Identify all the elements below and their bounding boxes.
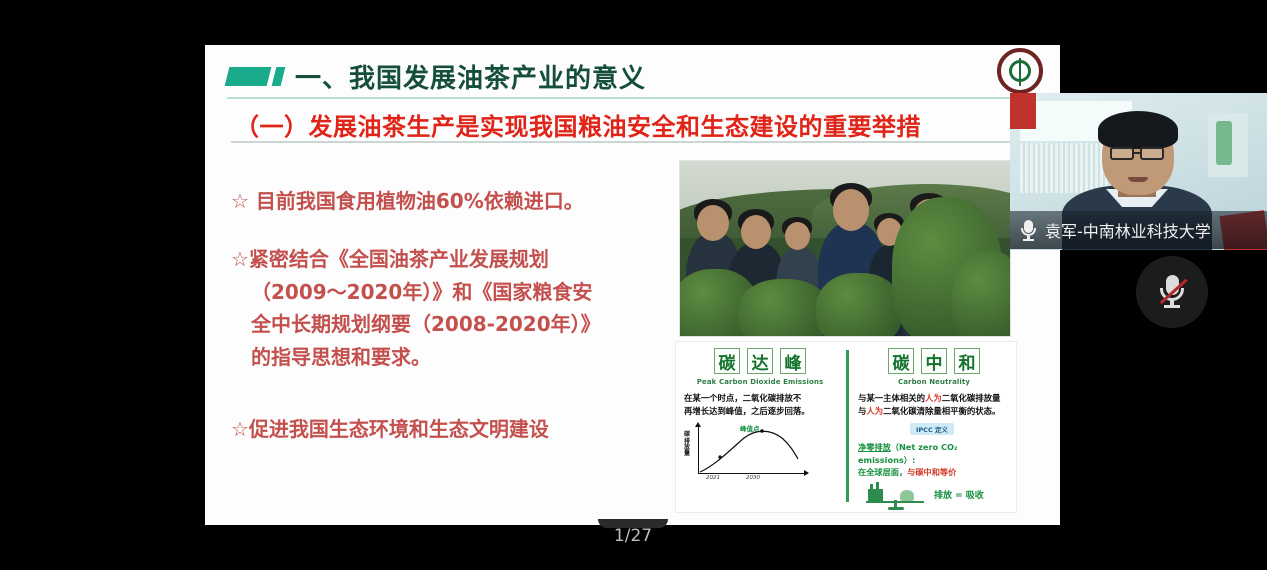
carbon-peak-body: 在某一个时点，二氧化碳排放不 再增长达到峰值，之后逐步回落。 xyxy=(684,392,836,417)
carbon-neutrality-char-2: 中 xyxy=(921,348,947,374)
chart-curve xyxy=(698,426,808,476)
slide-subtitle: （一）发展油茶生产是实现我国粮油安全和生态建设的重要举措 xyxy=(235,107,1055,142)
photo-bush-5 xyxy=(952,251,1011,337)
chart-xtick-1: 2021 xyxy=(706,475,720,481)
net-zero-scope: 在全球层面， xyxy=(858,467,907,477)
presentation-slide[interactable]: 一、我国发展油茶产业的意义 （一）发展油茶生产是实现我国粮油安全和生态建设的重要… xyxy=(205,45,1060,525)
carbon-peak-body-line-2: 再增长达到峰值，之后逐步回落。 xyxy=(684,405,836,418)
photo-person-2-head xyxy=(741,215,771,249)
carbon-peak-char-3: 峰 xyxy=(780,348,806,374)
university-logo xyxy=(997,48,1043,94)
net-zero-equiv: 与碳中和等价 xyxy=(907,467,956,477)
carbon-peak-english: Peak Carbon Dioxide Emissions xyxy=(684,378,836,386)
carbon-neutrality-body-line-1: 与某一主体相关的人为二氧化碳排放量 xyxy=(858,392,1010,405)
net-zero-line-2: 在全球层面，与碳中和等价 xyxy=(858,466,1010,478)
accent-bar-small-icon xyxy=(272,67,286,86)
infographic-divider xyxy=(846,350,849,502)
carbon-infographic: 碳 达 峰 Peak Carbon Dioxide Emissions 在某一个… xyxy=(675,341,1017,513)
carbon-neutrality-body-line-2: 与人为二氧化碳清除量相平衡的状态。 xyxy=(858,405,1010,418)
screen-root: 一、我国发展油茶产业的意义 （一）发展油茶生产是实现我国粮油安全和生态建设的重要… xyxy=(0,0,1267,570)
cn-line1-a: 与某一主体相关的 xyxy=(858,393,925,403)
slide-bullet-list: ☆ 目前我国食用植物油60%依赖进口。 ☆紧密结合《全国油茶产业发展规划 （20… xyxy=(231,185,646,445)
bullet-item-3: ☆促进我国生态环境和生态文明建设 xyxy=(231,413,646,445)
participant-name-strip: 袁军-中南林业科技大学 xyxy=(1010,211,1267,249)
logo-emblem-icon xyxy=(1009,60,1031,82)
slide-title: 一、我国发展油茶产业的意义 xyxy=(295,58,646,95)
carbon-neutrality-char-3: 和 xyxy=(954,348,980,374)
carbon-neutrality-title: 碳 中 和 xyxy=(858,348,1010,374)
carbon-neutrality-char-1: 碳 xyxy=(888,348,914,374)
subtitle-underline xyxy=(231,141,1039,143)
video-bg-poster xyxy=(1208,113,1248,177)
bullet-item-2-line-3: 全中长期规划纲要（2008-2020年）》 xyxy=(231,308,646,340)
participant-mouth xyxy=(1128,177,1148,182)
scale-base xyxy=(888,507,904,510)
microphone-icon xyxy=(1020,219,1037,242)
carbon-peak-char-2: 达 xyxy=(747,348,773,374)
bullet-item-2-line-2: （2009～2020年）》和《国家粮食安 xyxy=(231,276,646,308)
page-indicator[interactable]: 1/27 xyxy=(594,524,672,552)
bullet-item-2: ☆紧密结合《全国油茶产业发展规划 （2009～2020年）》和《国家粮食安 全中… xyxy=(231,243,646,373)
cn-line2-highlight: 人为 xyxy=(866,406,883,416)
bullet-item-2-line-4: 的指导思想和要求。 xyxy=(231,341,646,373)
microphone-muted-icon xyxy=(1159,274,1185,310)
accent-bar-large-icon xyxy=(225,67,272,86)
carbon-peak-body-line-1: 在某一个时点，二氧化碳排放不 xyxy=(684,392,836,405)
mute-status-button[interactable] xyxy=(1136,256,1208,328)
carbon-peak-char-1: 碳 xyxy=(714,348,740,374)
factory-icon xyxy=(868,489,883,501)
chart-y-axis-label: 碳排放量 xyxy=(684,432,693,457)
carbon-peak-panel: 碳 达 峰 Peak Carbon Dioxide Emissions 在某一个… xyxy=(684,348,836,486)
cn-line1-b: 二氧化碳排放量 xyxy=(942,393,1001,403)
carbon-peak-title: 碳 达 峰 xyxy=(684,348,836,374)
net-zero-term: 净零排放 xyxy=(858,442,891,452)
carbon-neutrality-panel: 碳 中 和 Carbon Neutrality 与某一主体相关的人为二氧化碳排放… xyxy=(858,348,1010,510)
photo-person-1-head xyxy=(697,205,729,241)
cn-line1-highlight: 人为 xyxy=(925,393,942,403)
mic-base xyxy=(1023,239,1034,241)
carbon-peak-chart: 碳排放量 峰值点 2021 2030 xyxy=(684,424,834,486)
video-bg-red-edge xyxy=(1010,93,1036,129)
carbon-neutrality-body: 与某一主体相关的人为二氧化碳排放量 与人为二氧化碳清除量相平衡的状态。 xyxy=(858,392,1010,417)
tree-icon xyxy=(900,490,914,501)
slide-title-row: 一、我国发展油茶产业的意义 xyxy=(227,55,1039,97)
bullet-item-2-line-1: ☆紧密结合《全国油茶产业发展规划 xyxy=(231,243,646,275)
balance-scale-icon xyxy=(864,480,934,510)
mic-arc xyxy=(1021,228,1036,236)
participant-glasses-right xyxy=(1140,147,1164,160)
emission-equation: 排放 = 吸收 xyxy=(934,488,984,501)
photo-person-3-head xyxy=(785,222,810,250)
title-accent-bars xyxy=(227,67,283,86)
ipcc-definition-badge: IPCC 定义 xyxy=(910,423,954,435)
chart-xtick-2: 2030 xyxy=(746,475,760,481)
participant-glasses-bridge xyxy=(1134,152,1140,154)
emission-balance-row: 排放 = 吸收 xyxy=(858,478,1010,510)
participant-glasses-left xyxy=(1110,147,1134,160)
net-zero-block: 净零排放（Net zero CO₂ emissions）: 在全球层面，与碳中和… xyxy=(858,441,1010,478)
carbon-neutrality-english: Carbon Neutrality xyxy=(858,378,1010,386)
net-zero-line-1: 净零排放（Net zero CO₂ emissions）: xyxy=(858,441,1010,466)
poster-graphic xyxy=(1216,121,1232,165)
mute-mic-base xyxy=(1164,305,1180,308)
cn-line2-b: 二氧化碳清除量相平衡的状态。 xyxy=(883,406,1000,416)
participant-name: 袁军-中南林业科技大学 xyxy=(1045,218,1211,242)
field-inspection-photo xyxy=(679,160,1011,337)
participant-hair xyxy=(1098,111,1178,149)
title-underline xyxy=(227,97,1039,99)
bullet-item-1: ☆ 目前我国食用植物油60%依赖进口。 xyxy=(231,185,646,217)
photo-person-4-head xyxy=(833,189,869,231)
photo-bush-3 xyxy=(816,273,902,337)
